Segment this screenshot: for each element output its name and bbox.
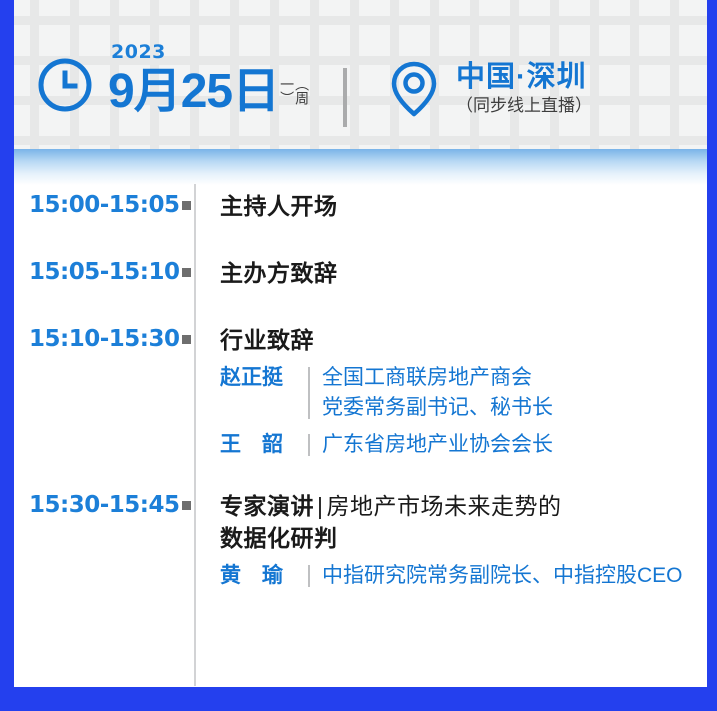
agenda-row: 15:05-15:10 主办方致辞	[14, 257, 707, 289]
agenda-speaker: 王 韶 广东省房地产业协会会长	[220, 430, 697, 460]
header-divider	[343, 68, 347, 127]
agenda-body: 专家演讲|房地产市场未来走势的 数据化研判 黄 瑜 中指研究院常务副院长、中指控…	[220, 490, 707, 591]
speaker-role-line: 广东省房地产业协会会长	[322, 430, 553, 460]
agenda-speaker: 黄 瑜 中指研究院常务副院长、中指控股CEO	[220, 561, 697, 591]
event-date-block: 2023 9月25日 （周一）	[36, 56, 279, 117]
speaker-separator	[308, 565, 310, 587]
agenda-body: 主持人开场	[220, 190, 707, 222]
timeline-marker-icon	[179, 198, 194, 213]
event-year: 2023	[111, 41, 166, 63]
agenda-time: 15:00-15:05	[14, 190, 182, 220]
agenda-body: 行业致辞 赵正挺 全国工商联房地产商会 党委常务副书记、秘书长 王 韶	[220, 324, 707, 460]
speaker-role: 中指研究院常务副院长、中指控股CEO	[322, 561, 683, 591]
speaker-role-line: 全国工商联房地产商会	[322, 363, 553, 393]
event-location-text: 中国·深圳 （同步线上直播）	[456, 61, 592, 118]
speaker-role: 全国工商联房地产商会 党委常务副书记、秘书长	[322, 363, 553, 423]
speaker-name: 黄 瑜	[220, 561, 308, 591]
agenda-row: 15:30-15:45 专家演讲|房地产市场未来走势的 数据化研判 黄 瑜 中指…	[14, 490, 707, 591]
poster-frame: 2023 9月25日 （周一） 中国·深圳 （同步线上直播）	[0, 0, 717, 711]
event-city: 中国·深圳	[456, 61, 592, 94]
agenda-time: 15:10-15:30	[14, 324, 182, 354]
speaker-separator	[308, 434, 310, 456]
agenda-title-rest: 房地产市场未来走势的	[326, 493, 561, 519]
poster-card: 2023 9月25日 （周一） 中国·深圳 （同步线上直播）	[14, 0, 707, 687]
timeline-marker-icon	[179, 332, 194, 347]
agenda-title: 行业致辞	[220, 324, 697, 356]
agenda-title-bold: 专家演讲	[220, 493, 314, 519]
agenda-row: 15:00-15:05 主持人开场	[14, 190, 707, 222]
agenda-title: 主办方致辞	[220, 257, 697, 289]
location-pin-icon	[386, 58, 442, 120]
timeline-marker-icon	[179, 265, 194, 280]
speaker-name: 王 韶	[220, 430, 308, 460]
clock-icon	[36, 56, 94, 114]
event-day: 9月25日	[108, 65, 279, 118]
agenda-row: 15:10-15:30 行业致辞 赵正挺 全国工商联房地产商会 党委常务副书记、…	[14, 324, 707, 460]
event-date-text: 2023 9月25日 （周一）	[108, 67, 279, 117]
speaker-name: 赵正挺	[220, 363, 308, 393]
event-location-block: 中国·深圳 （同步线上直播）	[386, 58, 592, 120]
agenda-time: 15:05-15:10	[14, 257, 182, 287]
agenda-speaker: 赵正挺 全国工商联房地产商会 党委常务副书记、秘书长	[220, 363, 697, 423]
agenda-title-line2: 数据化研判	[220, 522, 697, 554]
speaker-role: 广东省房地产业协会会长	[322, 430, 553, 460]
agenda-title: 专家演讲|房地产市场未来走势的	[220, 490, 697, 522]
event-weekday: （周一）	[287, 67, 309, 115]
event-city-note: （同步线上直播）	[456, 94, 592, 118]
agenda-title-separator: |	[317, 493, 323, 519]
speaker-separator	[308, 367, 310, 419]
speaker-role-line: 中指研究院常务副院长、中指控股CEO	[322, 561, 683, 591]
agenda-list: 15:00-15:05 主持人开场 15:05-15:10 主办方致辞	[14, 190, 707, 591]
event-header: 2023 9月25日 （周一） 中国·深圳 （同步线上直播）	[14, 0, 707, 149]
agenda-title: 主持人开场	[220, 190, 697, 222]
speaker-role-line: 党委常务副书记、秘书长	[322, 393, 553, 423]
header-fade-gradient	[14, 149, 707, 185]
timeline-marker-icon	[179, 498, 194, 513]
agenda-body: 主办方致辞	[220, 257, 707, 289]
agenda-time: 15:30-15:45	[14, 490, 182, 520]
